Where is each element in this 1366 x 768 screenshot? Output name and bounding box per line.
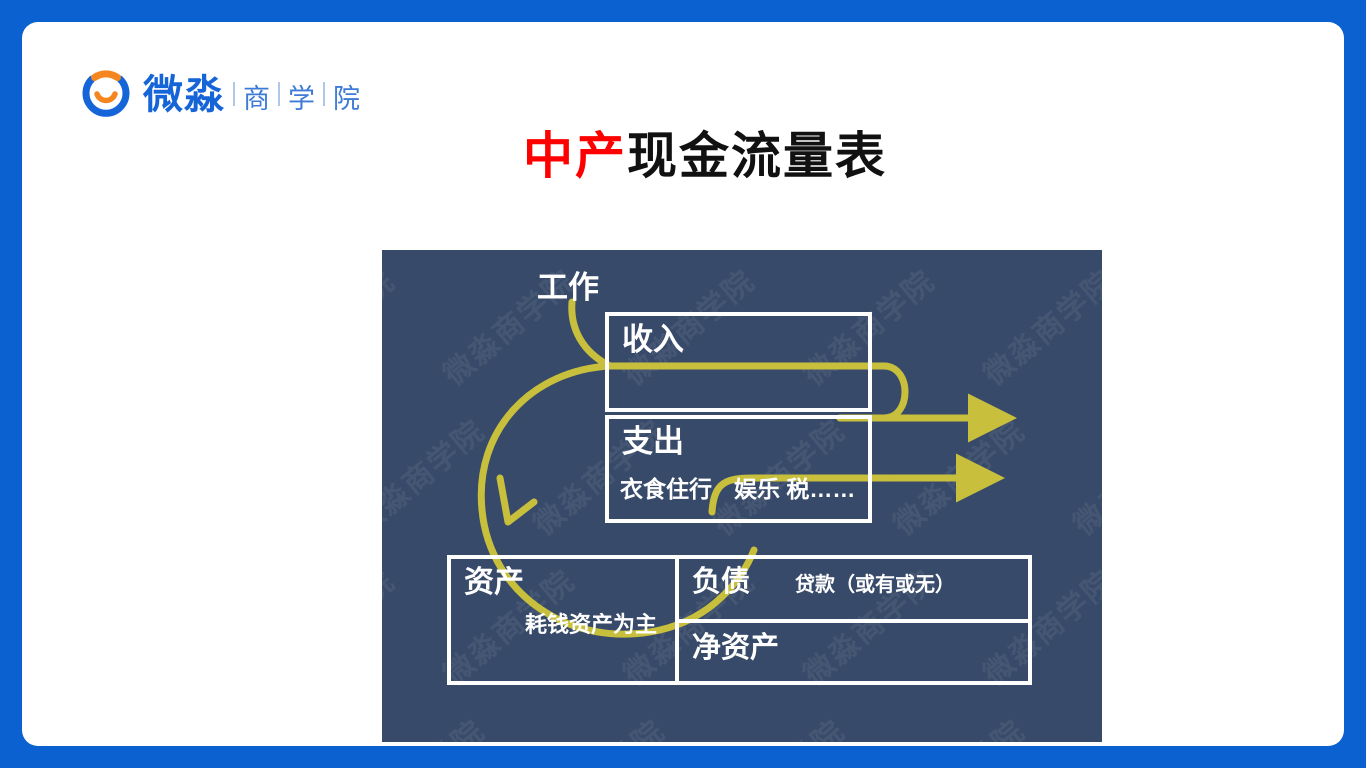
logo-divider-3 [323,82,325,106]
weimiao-circle-smile-logo-icon [79,68,133,122]
asset-label: 资产 [464,568,524,598]
logo-divider-1 [233,82,235,106]
work-label: 工作 [537,272,599,303]
logo-main-text: 微淼 [143,75,225,115]
logo-sub-1: 商 [243,86,270,113]
brand-logo[interactable]: 微淼 商 学 院 [79,64,349,126]
page-title: 中产现金流量表 [22,128,1366,183]
income-label: 收入 [622,324,684,355]
logo-sub-2: 学 [288,86,315,113]
slide-root: 微淼 商 学 院 中产现金流量表 微淼商学院微淼商学院微淼商学院微淼商学院微淼商… [0,0,1366,768]
logo-wordmark: 微淼 商 学 院 [143,75,360,115]
balance-sheet-horizontal-divider [675,619,1032,623]
asset-sublabel: 耗钱资产为主 [525,614,657,636]
liability-label: 负债 [692,568,750,597]
title-black-part: 现金流量表 [627,126,887,185]
expense-extra-label: 娱乐 税…… [734,478,855,501]
loop-arrowhead [500,478,534,522]
logo-svg [79,68,133,122]
cashflow-diagram-panel: 微淼商学院微淼商学院微淼商学院微淼商学院微淼商学院微淼商学院微淼商学院微淼商学院… [382,250,1102,742]
liability-sublabel: 贷款（或有或无） [795,575,955,595]
expense-label: 支出 [622,426,684,457]
title-red-part: 中产 [523,126,627,185]
slide-canvas: 微淼 商 学 院 中产现金流量表 微淼商学院微淼商学院微淼商学院微淼商学院微淼商… [22,22,1344,746]
logo-divider-2 [278,82,280,106]
net-asset-label: 净资产 [692,634,779,663]
expense-basic-label: 衣食住行 [620,478,712,501]
logo-sub-3: 院 [333,86,360,113]
